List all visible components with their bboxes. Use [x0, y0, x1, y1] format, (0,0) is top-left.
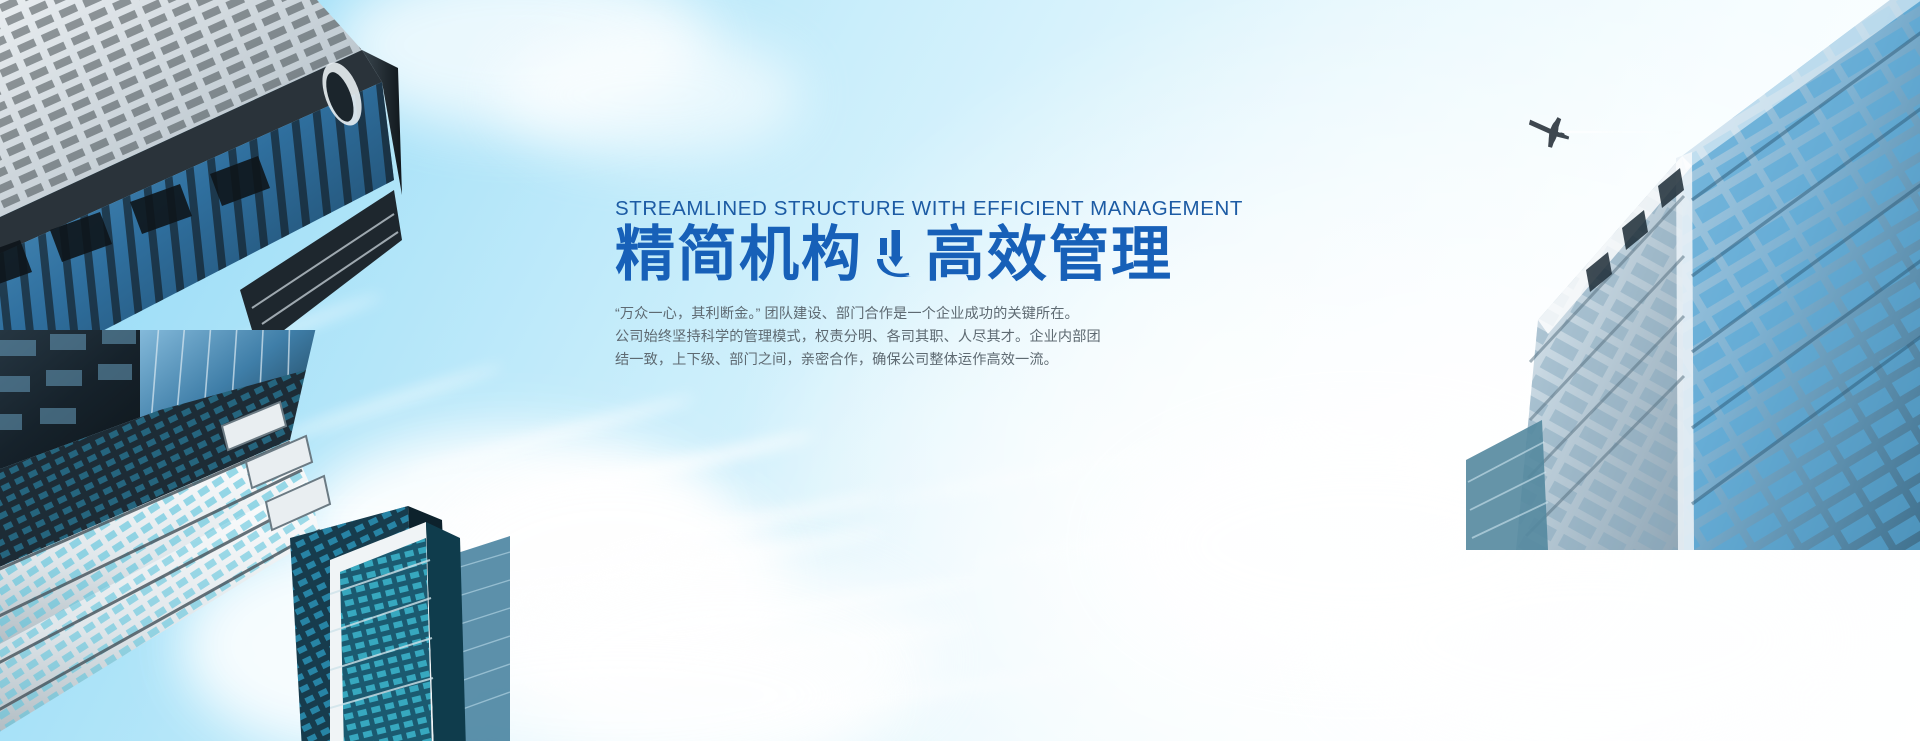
paragraph-line-2: 公司始终坚持科学的管理模式，权责分明、各司其职、人尽其才。企业内部团 [615, 326, 1255, 349]
right-glass-skyscraper [1280, 0, 1920, 550]
company-mark-icon [873, 229, 915, 281]
hero-paragraph: “万众一心，其利断金。” 团队建设、部门合作是一个企业成功的关键所在。 公司始终… [615, 303, 1255, 372]
headline-right-phrase: 高效管理 [925, 223, 1173, 288]
hero-banner: STREAMLINED STRUCTURE WITH EFFICIENT MAN… [0, 0, 1920, 741]
hero-copy-block: STREAMLINED STRUCTURE WITH EFFICIENT MAN… [615, 198, 1255, 372]
headline-left-phrase: 精简机构 [615, 223, 863, 288]
hero-headline: 精简机构 高效管理 [615, 223, 1255, 288]
left-teal-office-tower [330, 490, 550, 741]
hero-eyebrow: STREAMLINED STRUCTURE WITH EFFICIENT MAN… [615, 198, 1255, 221]
paragraph-line-1: “万众一心，其利断金。” 团队建设、部门合作是一个企业成功的关键所在。 [615, 303, 1255, 326]
paragraph-line-3: 结一致，上下级、部门之间，亲密合作，确保公司整体运作高效一流。 [615, 349, 1255, 372]
